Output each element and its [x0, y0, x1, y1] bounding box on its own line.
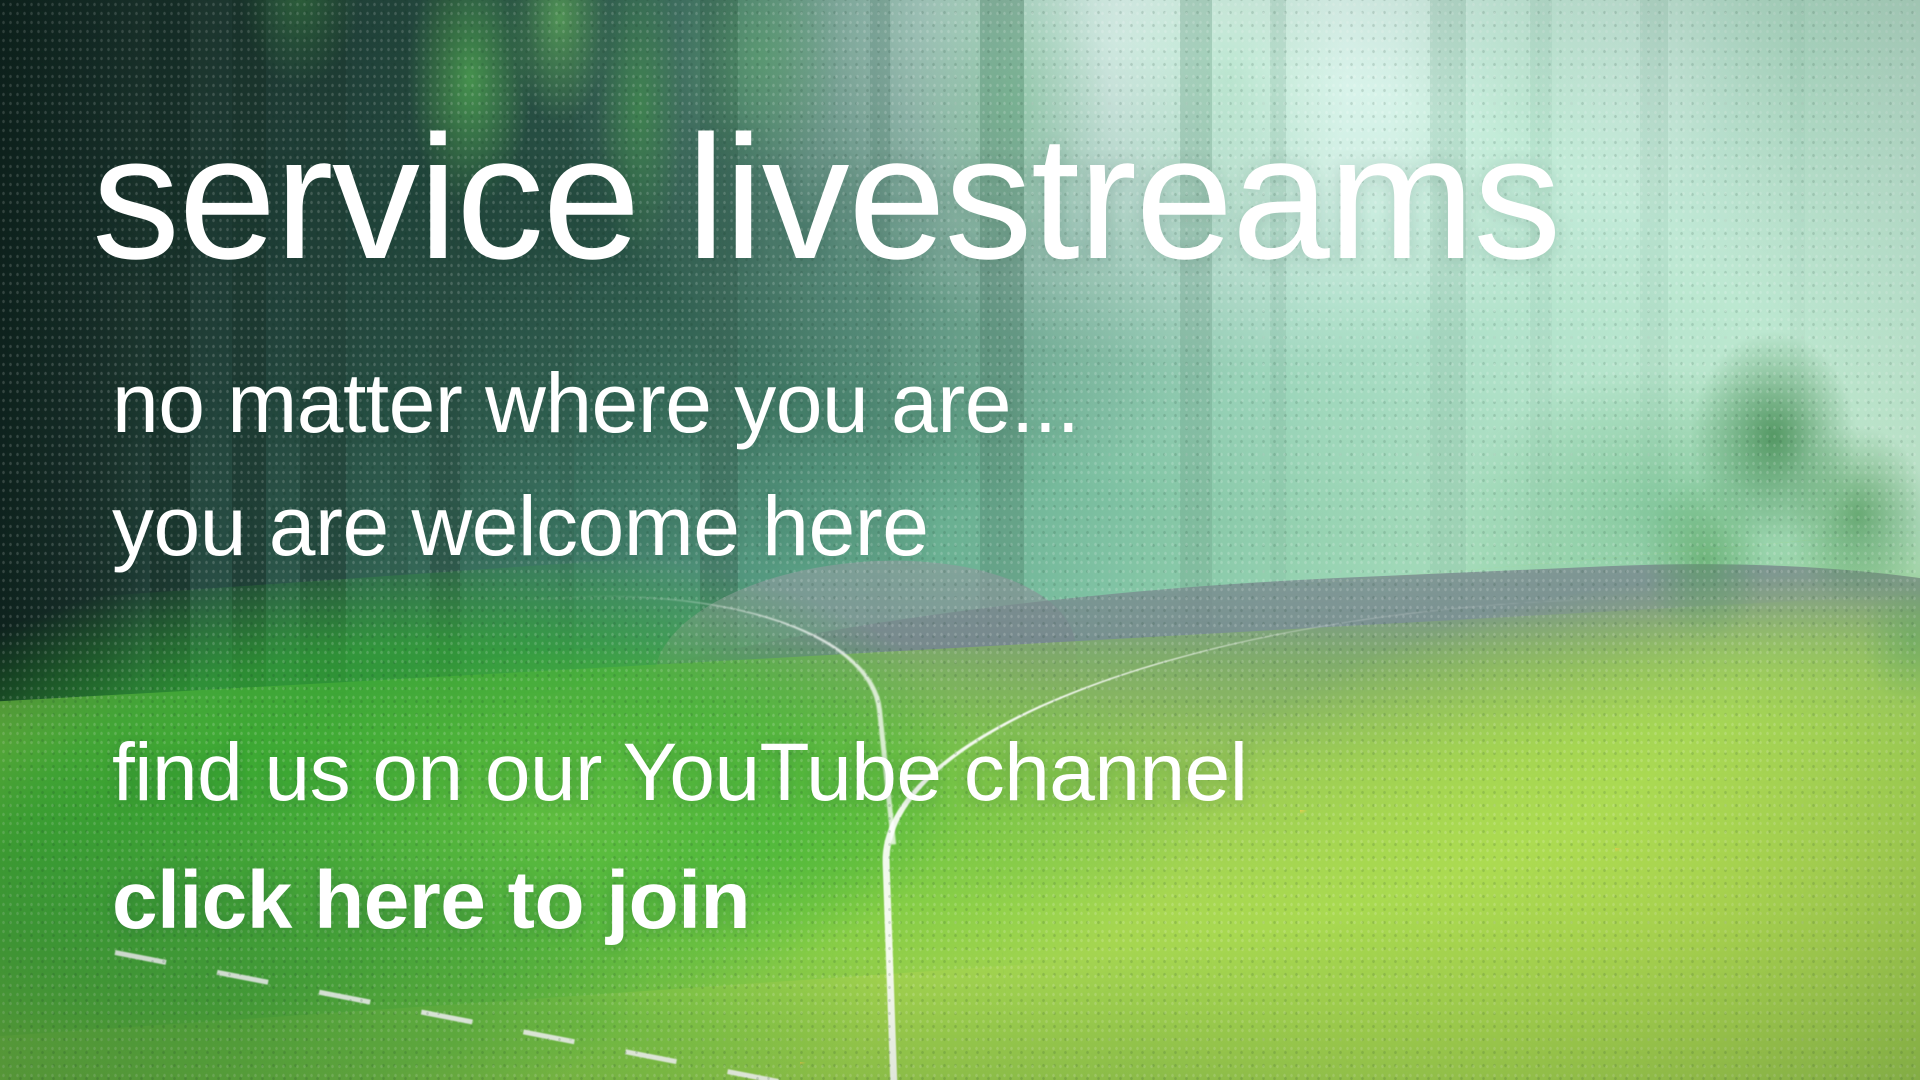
- youtube-channel-text: find us on our YouTube channel: [112, 728, 1247, 818]
- click-here-to-join-link[interactable]: click here to join: [112, 856, 750, 946]
- banner-headline: service livestreams: [92, 110, 1560, 286]
- banner-copy: service livestreams no matter where you …: [0, 0, 1920, 1080]
- livestream-promo-banner: service livestreams no matter where you …: [0, 0, 1920, 1080]
- banner-subheadline-line-1: no matter where you are...: [112, 355, 1079, 452]
- banner-subheadline-line-2: you are welcome here: [112, 478, 928, 575]
